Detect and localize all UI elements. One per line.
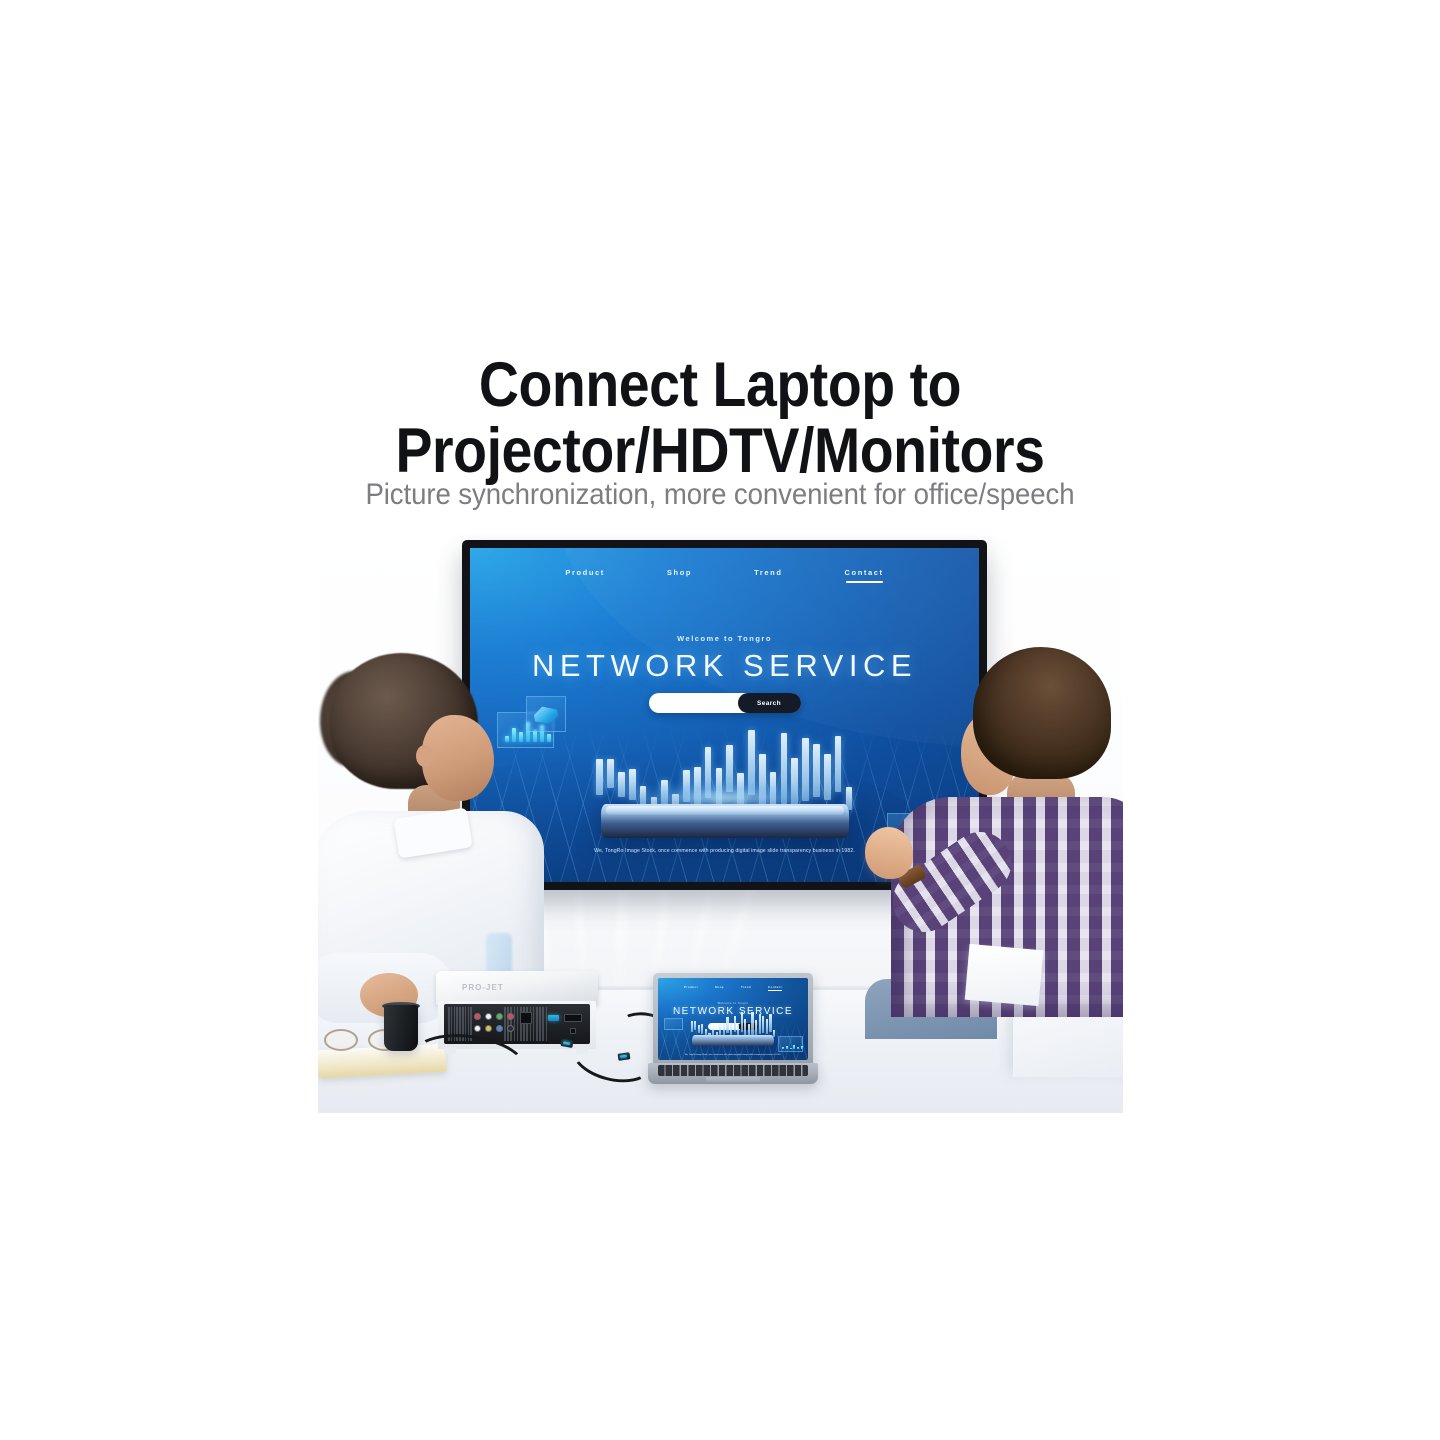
projector-rca-port: [496, 1025, 503, 1032]
laptop-chart-bar: [694, 1021, 696, 1030]
laptop-chart-bar: [691, 1021, 693, 1032]
hero-chart-bar: [835, 736, 842, 792]
laptop-nav-item-shop[interactable]: Shop: [715, 985, 724, 991]
laptop-floating-tablet: [692, 1035, 774, 1046]
laptop-chart-bar: [744, 1019, 746, 1037]
page-title: Connect Laptop to Projector/HDTV/Monitor…: [0, 352, 1440, 484]
laptop-chart-bar: [741, 1012, 743, 1033]
page-title-line-1: Connect Laptop to: [86, 352, 1353, 418]
projector-audio-jack: [570, 1028, 576, 1034]
projector-vga-port: [564, 1014, 582, 1022]
nav-item-product[interactable]: Product: [565, 568, 605, 582]
projector-vent: [546, 1007, 548, 1041]
projector-vent: [517, 1007, 519, 1041]
projector-vent: [507, 1007, 509, 1041]
laptop-chart-bar: [726, 1017, 728, 1033]
laptop-chart-bar: [698, 1025, 700, 1033]
laptop-screen: Product Shop Trend Contact Welcome to To…: [658, 978, 808, 1060]
nav-item-contact[interactable]: Contact: [845, 568, 884, 582]
widget-chart-bar: [793, 1045, 795, 1049]
projector-vent: [504, 1007, 506, 1041]
laptop-lid: Product Shop Trend Contact Welcome to To…: [653, 973, 813, 1065]
widget-chart-bar: [801, 1046, 803, 1049]
projector-vent: [536, 1007, 538, 1041]
projector-power-socket: [520, 1012, 532, 1024]
laptop-nav-item-trend[interactable]: Trend: [741, 985, 751, 991]
laptop-widget-left: [664, 1018, 683, 1030]
nav-item-shop[interactable]: Shop: [667, 568, 692, 582]
laptop-device: Product Shop Trend Contact Welcome to To…: [648, 973, 818, 1091]
scene-photo: Product Shop Trend Contact Welcome to To…: [318, 535, 1123, 1113]
projector-rca-port: [496, 1013, 503, 1020]
laptop-chart-bar: [766, 1019, 768, 1034]
projector-rca-port: [474, 1013, 481, 1020]
laptop-hero-chart: [690, 1000, 776, 1038]
hero-chart-bar: [596, 759, 603, 794]
laptop-trackpad[interactable]: [706, 1077, 760, 1082]
person-left-ear: [416, 745, 433, 767]
projector-rca-port: [485, 1013, 492, 1020]
laptop-nav-item-product[interactable]: Product: [684, 985, 698, 991]
laptop-nav-item-contact[interactable]: Contact: [768, 985, 782, 991]
projector-vent: [539, 1007, 541, 1041]
papers-stack: [965, 944, 1044, 1006]
laptop-keyboard[interactable]: [658, 1065, 808, 1076]
hero-chart-bar: [607, 759, 614, 788]
projector-brand-label: PRO-JET: [462, 983, 504, 992]
laptop-chart-bar: [701, 1024, 703, 1034]
hdmi-plug-accent-2: [563, 1041, 571, 1046]
floating-tablet-device: [601, 804, 849, 838]
hdmi-plug-accent: [620, 1054, 627, 1059]
person-right-hair: [973, 647, 1111, 779]
page-root: Connect Laptop to Projector/HDTV/Monitor…: [0, 0, 1440, 1440]
nav-item-trend[interactable]: Trend: [754, 568, 782, 582]
laptop-nav: Product Shop Trend Contact: [658, 985, 808, 991]
laptop-chart-bar: [755, 1020, 757, 1036]
person-right-pointing-hand: [865, 827, 913, 879]
hdtv-welcome-text: Welcome to Tongro: [470, 634, 979, 643]
laptop-chart-bar: [723, 1023, 725, 1035]
projector-rca-port: [485, 1025, 492, 1032]
laptop-widget-right: [778, 1036, 803, 1052]
projector-top-shell: PRO-JET: [436, 971, 598, 1005]
laptop-chart-bar: [719, 1024, 721, 1034]
page-title-line-2: Projector/HDTV/Monitors: [86, 418, 1353, 484]
projector-hdmi-port: [548, 1015, 559, 1021]
tablet-surface: [606, 806, 844, 815]
laptop-chart-bar: [759, 1014, 761, 1034]
projector-rca-port: [507, 1025, 514, 1032]
widget-chart-bar: [786, 1046, 788, 1049]
laptop-chart-bar: [751, 1012, 753, 1035]
projector-rca-port: [474, 1025, 481, 1032]
projector-vent: [533, 1007, 535, 1041]
laptop-chart-bar: [762, 1016, 764, 1033]
hdtv-nav: Product Shop Trend Contact: [470, 568, 979, 582]
projector-vent: [542, 1007, 544, 1041]
coffee-cup: [384, 1005, 418, 1051]
widget-chart-bar: [782, 1047, 784, 1049]
widget-chart-bar: [790, 1048, 792, 1049]
projector-rca-port: [507, 1013, 514, 1020]
widget-chart-bar: [797, 1047, 799, 1049]
eyeglasses-lens-left: [324, 1029, 358, 1051]
laptop-base: [648, 1063, 818, 1084]
laptop-chart-bar: [769, 1014, 771, 1032]
page-subtitle: Picture synchronization, more convenient…: [58, 478, 1383, 512]
projector-vent: [514, 1007, 516, 1041]
laptop-caption-text: We, TongRo Image Stock, once commence wi…: [658, 1054, 808, 1057]
laptop-chart-bar: [734, 1016, 736, 1031]
widget-chart-bar: [547, 734, 551, 742]
